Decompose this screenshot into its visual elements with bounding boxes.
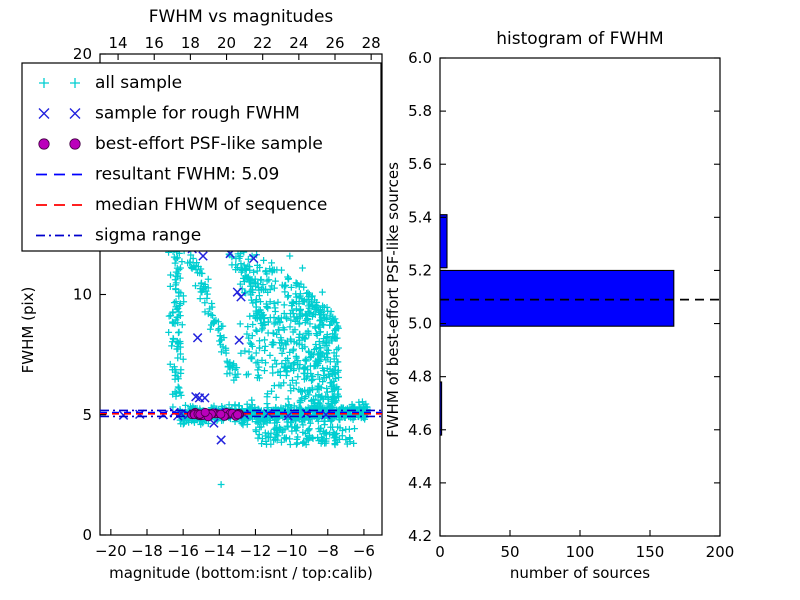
left-top-tick-label: 26 [325,34,344,52]
right-x-tick-label: 0 [435,543,445,561]
left-xaxis-label: magnitude (bottom:isnt / top:calib) [109,564,373,582]
right-xaxis-label: number of sources [510,564,650,582]
legend[interactable]: all samplesample for rough FWHMbest-effo… [22,63,381,251]
histogram-bar [440,215,447,268]
right-y-tick-label: 5.8 [408,102,432,120]
legend-label: resultant FWHM: 5.09 [95,165,279,185]
right-yaxis-label: FWHM of best-effort PSF-like sources [384,162,402,438]
right-y-tick-label: 4.4 [408,474,432,492]
left-bottom-tick-label: −6 [353,542,375,560]
right-y-tick-label: 6.0 [408,49,432,67]
right-x-tick-label: 200 [706,543,735,561]
legend-box [22,63,381,251]
left-top-tick-label: 24 [289,34,308,52]
figure-canvas: FWHM vs magnitudes [0,0,800,600]
right-y-tick-label: 5.0 [408,315,432,333]
right-y-tick-label: 4.6 [408,421,432,439]
left-bottom-tick-label: −8 [317,542,339,560]
psf-sample-point [201,408,209,416]
legend-label: all sample [95,73,182,93]
legend-label: sigma range [95,226,201,246]
right-y-tick-label: 4.2 [408,527,432,545]
left-top-tick-label: 28 [362,34,381,52]
left-plot-title: FWHM vs magnitudes [149,7,334,27]
left-top-tick-label: 20 [217,34,236,52]
left-y-tick-label: 20 [73,45,92,63]
left-top-tick-label: 14 [109,34,128,52]
right-x-tick-label: 150 [636,543,665,561]
legend-label: median FHWM of sequence [95,195,327,215]
psf-sample-point [234,411,242,419]
left-bottom-tick-label: −12 [240,542,272,560]
left-yaxis-label: FWHM (pix) [19,287,37,374]
left-y-tick-label: 10 [73,286,92,304]
right-x-tick-label: 100 [566,543,595,561]
left-bottom-tick-label: −18 [131,542,163,560]
left-top-tick-label: 22 [253,34,272,52]
matplotlib-figure: FWHM vs magnitudes [0,0,800,600]
left-bottom-tick-label: −14 [203,542,235,560]
left-bottom-tick-label: −10 [276,542,308,560]
right-x-tick-label: 50 [500,543,519,561]
right-y-tick-label: 4.8 [408,368,432,386]
left-y-tick-label: 0 [82,526,92,544]
legend-marker-circle-icon [39,139,49,149]
left-y-tick-label: 5 [82,406,92,424]
legend-label: sample for rough FWHM [95,104,300,124]
legend-label: best-effort PSF-like sample [95,134,323,154]
left-top-tick-label: 18 [181,34,200,52]
psf-sample-point [217,410,225,418]
right-y-tick-label: 5.2 [408,261,432,279]
left-top-tick-label: 16 [145,34,164,52]
histogram-bar [440,270,674,326]
left-bottom-tick-label: −16 [167,542,199,560]
right-y-tick-label: 5.6 [408,155,432,173]
right-y-tick-label: 5.4 [408,208,432,226]
right-plot-title: histogram of FWHM [496,29,663,49]
histogram-bar [440,382,442,435]
legend-marker-circle-icon [70,139,80,149]
left-bottom-tick-label: −20 [95,542,127,560]
